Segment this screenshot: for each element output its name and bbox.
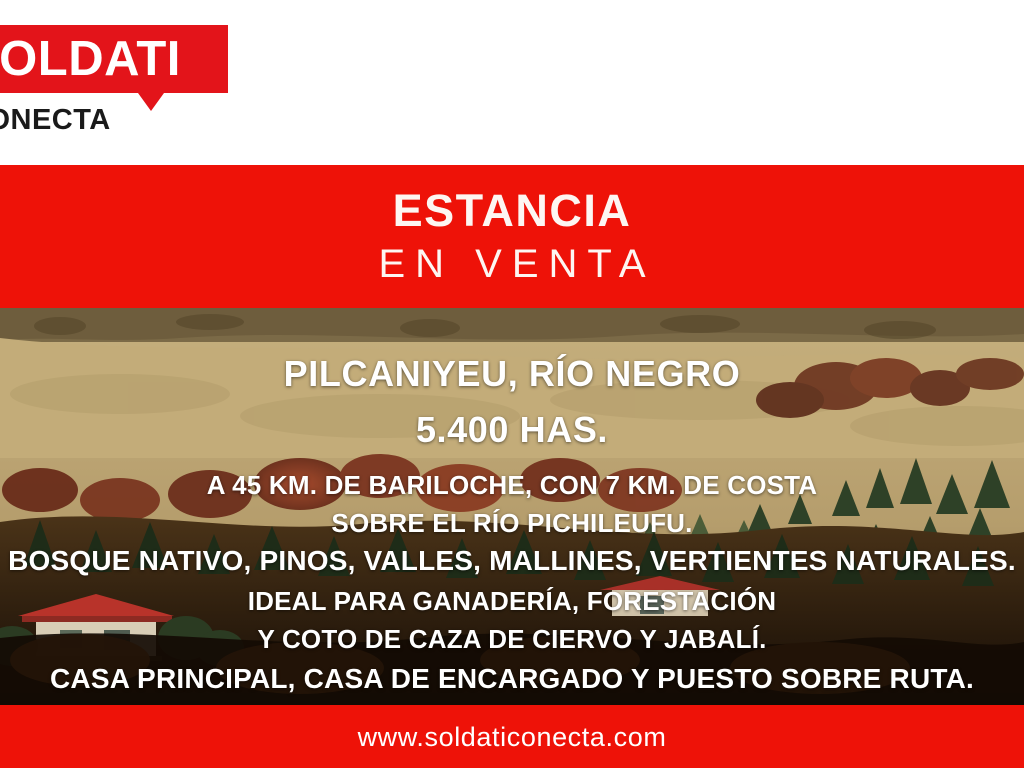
soldati-logo[interactable]: SOLDATI CONECTA [0,25,228,145]
headline-secondary: EN VENTA [0,239,1024,289]
website-footer-bar: www.soldaticonecta.com [0,705,1024,768]
logo-subbrand: CONECTA [0,101,111,139]
logo-wordmark: SOLDATI [0,29,181,89]
advertisement-card: SOLDATI CONECTA ESTANCIA EN VENTA PILCAN… [0,0,1024,768]
headline-banner: ESTANCIA EN VENTA [0,165,1024,308]
website-url[interactable]: www.soldaticonecta.com [0,720,1024,754]
headline-primary: ESTANCIA [0,185,1024,237]
logo-bubble-tail-icon [138,93,164,111]
estancia-landscape-photo [0,308,1024,705]
brand-header: SOLDATI CONECTA [0,0,1024,165]
